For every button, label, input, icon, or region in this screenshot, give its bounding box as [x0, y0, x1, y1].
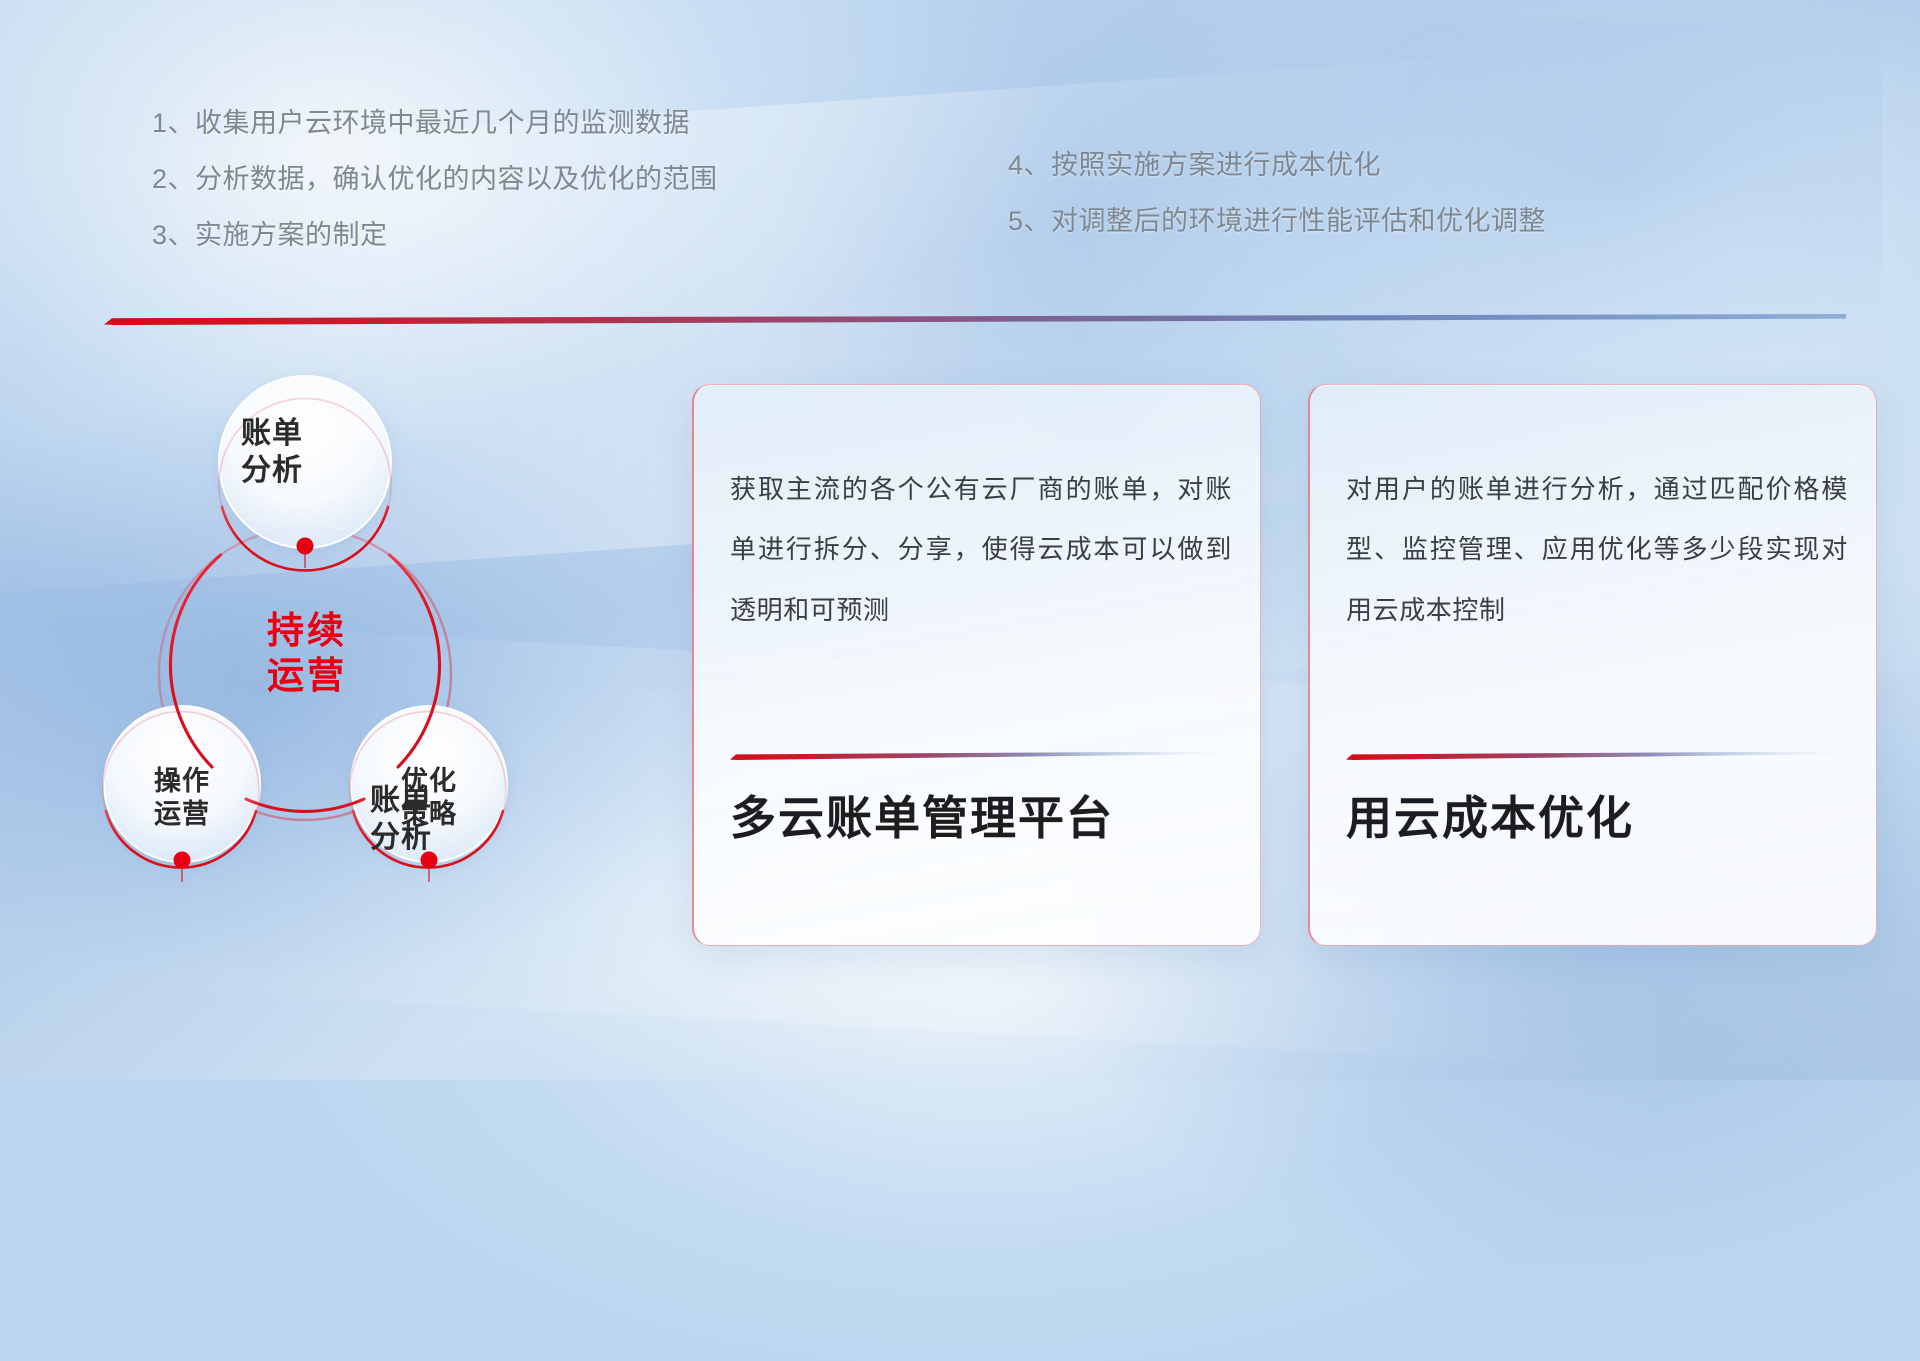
card-divider [730, 751, 1222, 760]
process-step-item: 5、对调整后的环境进行性能评估和优化调整 [1008, 208, 1546, 235]
venn-label-line1: 账单 [192, 415, 352, 452]
feature-card[interactable]: 获取主流的各个公有云厂商的账单，对账单进行拆分、分享，使得云成本可以做到透明和可… [692, 384, 1261, 946]
venn-center-line1: 持续 [212, 608, 402, 653]
venn-label-line2: 分析 [192, 452, 352, 489]
venn-label-billing-analysis: 账单 分析 [192, 415, 352, 489]
process-step-item: 1、收集用户云环境中最近几个月的监测数据 [152, 110, 718, 137]
process-steps-right-column: 4、按照实施方案进行成本优化 5、对调整后的环境进行性能评估和优化调整 [1008, 152, 1546, 264]
feature-card[interactable]: 对用户的账单进行分析，通过匹配价格模型、监控管理、应用优化等多少段实现对用云成本… [1308, 384, 1877, 946]
section-divider [104, 314, 1846, 325]
card-body-text: 对用户的账单进行分析，通过匹配价格模型、监控管理、应用优化等多少段实现对用云成本… [1346, 459, 1848, 640]
venn-label-optimization-strategy: 优化 策略 [354, 765, 504, 832]
venn-label-line1: 操作 [107, 765, 257, 798]
process-steps: 1、收集用户云环境中最近几个月的监测数据 2、分析数据，确认优化的内容以及优化的… [0, 0, 1920, 300]
venn-label-operations: 操作 运营 [107, 765, 257, 832]
process-step-item: 2、分析数据，确认优化的内容以及优化的范围 [152, 166, 718, 193]
venn-label-line1: 优化 [354, 765, 504, 798]
card-title: 多云账单管理平台 [730, 791, 1224, 846]
venn-label-line2: 运营 [107, 798, 257, 831]
venn-label-center: 持续 运营 [212, 608, 402, 698]
process-steps-left-column: 1、收集用户云环境中最近几个月的监测数据 2、分析数据，确认优化的内容以及优化的… [152, 110, 718, 278]
venn-dot-bottom-left [174, 852, 191, 869]
process-step-item: 3、实施方案的制定 [152, 222, 718, 249]
process-step-item: 4、按照实施方案进行成本优化 [1008, 152, 1546, 179]
card-divider [1346, 751, 1838, 760]
venn-center-line2: 运营 [212, 653, 402, 698]
venn-label-line2: 策略 [354, 798, 504, 831]
venn-dot-top [297, 538, 314, 555]
card-title: 用云成本优化 [1346, 791, 1840, 846]
card-body-text: 获取主流的各个公有云厂商的账单，对账单进行拆分、分享，使得云成本可以做到透明和可… [730, 459, 1232, 640]
